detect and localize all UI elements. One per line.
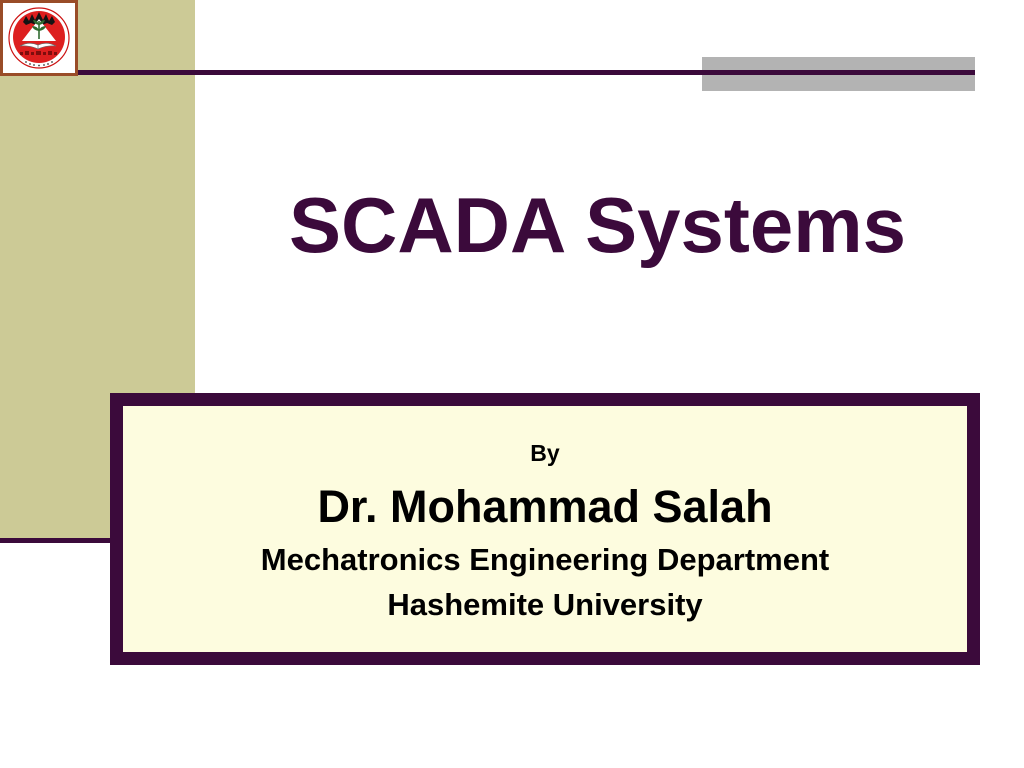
- presenter-institution: Hashemite University: [387, 586, 702, 625]
- presenter-department: Mechatronics Engineering Department: [261, 541, 829, 580]
- slide-title: SCADA Systems: [195, 185, 1000, 267]
- university-logo: [0, 0, 78, 76]
- byline-label: By: [530, 440, 559, 468]
- hashemite-university-crest-icon: [6, 6, 72, 70]
- header-divider-rule: [78, 70, 975, 75]
- presenter-name: Dr. Mohammad Salah: [317, 481, 772, 533]
- presenter-info-inner: By Dr. Mohammad Salah Mechatronics Engin…: [123, 406, 967, 652]
- khaki-top-band: [78, 0, 195, 76]
- presenter-info-box: By Dr. Mohammad Salah Mechatronics Engin…: [110, 393, 980, 665]
- presentation-slide: SCADA Systems By Dr. Mohammad Salah Mech…: [0, 0, 1024, 768]
